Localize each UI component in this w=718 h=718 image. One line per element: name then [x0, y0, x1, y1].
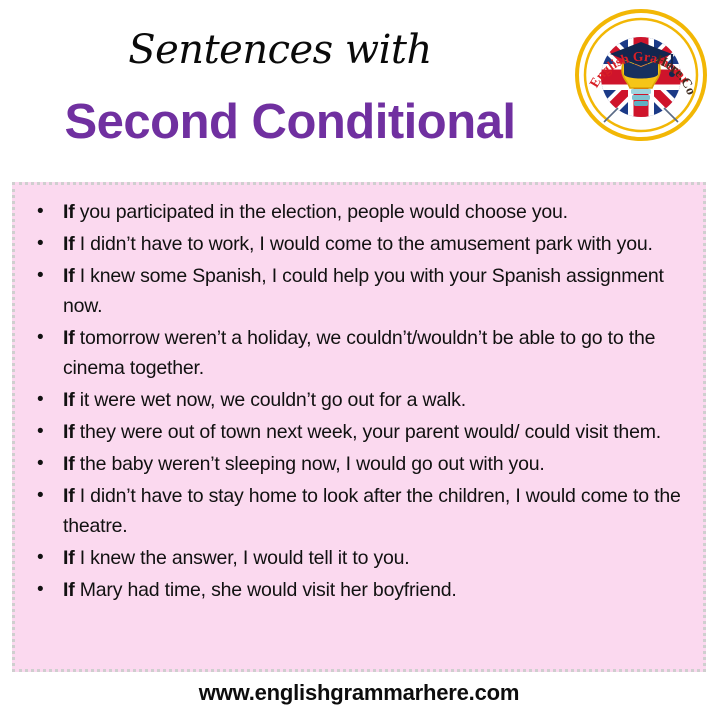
page-header: Sentences with Second Conditional: [0, 0, 718, 172]
english-grammar-here-logo[interactable]: English Grammar Here.Com: [574, 8, 708, 142]
list-item: If I didn’t have to stay home to look af…: [25, 481, 693, 541]
sentence-text: I didn’t have to stay home to look after…: [63, 485, 681, 537]
sentences-box: If you participated in the election, peo…: [12, 182, 706, 672]
list-item: If they were out of town next week, your…: [25, 417, 693, 447]
list-item: If I knew the answer, I would tell it to…: [25, 543, 693, 573]
keyword-if: If: [63, 547, 75, 569]
sentence-text: they were out of town next week, your pa…: [75, 421, 661, 443]
list-item: If the baby weren’t sleeping now, I woul…: [25, 449, 693, 479]
page-title: Sentences with: [0, 26, 560, 74]
list-item: If it were wet now, we couldn’t go out f…: [25, 385, 693, 415]
sentence-text: it were wet now, we couldn’t go out for …: [75, 389, 466, 411]
list-item: If you participated in the election, peo…: [25, 197, 693, 227]
keyword-if: If: [63, 579, 75, 601]
keyword-if: If: [63, 453, 75, 475]
keyword-if: If: [63, 233, 75, 255]
page-subtitle: Second Conditional: [0, 92, 580, 152]
keyword-if: If: [63, 327, 75, 349]
sentence-text: I knew the answer, I would tell it to yo…: [75, 547, 410, 569]
sentence-text: Mary had time, she would visit her boyfr…: [75, 579, 457, 601]
worksheet-page: Sentences with Second Conditional: [0, 0, 718, 718]
sentence-text: the baby weren’t sleeping now, I would g…: [75, 453, 545, 475]
sentence-text: you participated in the election, people…: [75, 201, 568, 223]
keyword-if: If: [63, 201, 75, 223]
sentence-text: I knew some Spanish, I could help you wi…: [63, 265, 664, 317]
keyword-if: If: [63, 485, 75, 507]
list-item: If tomorrow weren’t a holiday, we couldn…: [25, 323, 693, 383]
sentence-text: I didn’t have to work, I would come to t…: [75, 233, 653, 255]
title-block: Sentences with Second Conditional: [0, 0, 560, 172]
sentence-list: If you participated in the election, peo…: [25, 197, 693, 605]
keyword-if: If: [63, 421, 75, 443]
list-item: If I knew some Spanish, I could help you…: [25, 261, 693, 321]
sentence-text: tomorrow weren’t a holiday, we couldn’t/…: [63, 327, 655, 379]
list-item: If I didn’t have to work, I would come t…: [25, 229, 693, 259]
footer-website[interactable]: www.englishgrammarhere.com: [0, 676, 718, 710]
keyword-if: If: [63, 265, 75, 287]
keyword-if: If: [63, 389, 75, 411]
list-item: If Mary had time, she would visit her bo…: [25, 575, 693, 605]
